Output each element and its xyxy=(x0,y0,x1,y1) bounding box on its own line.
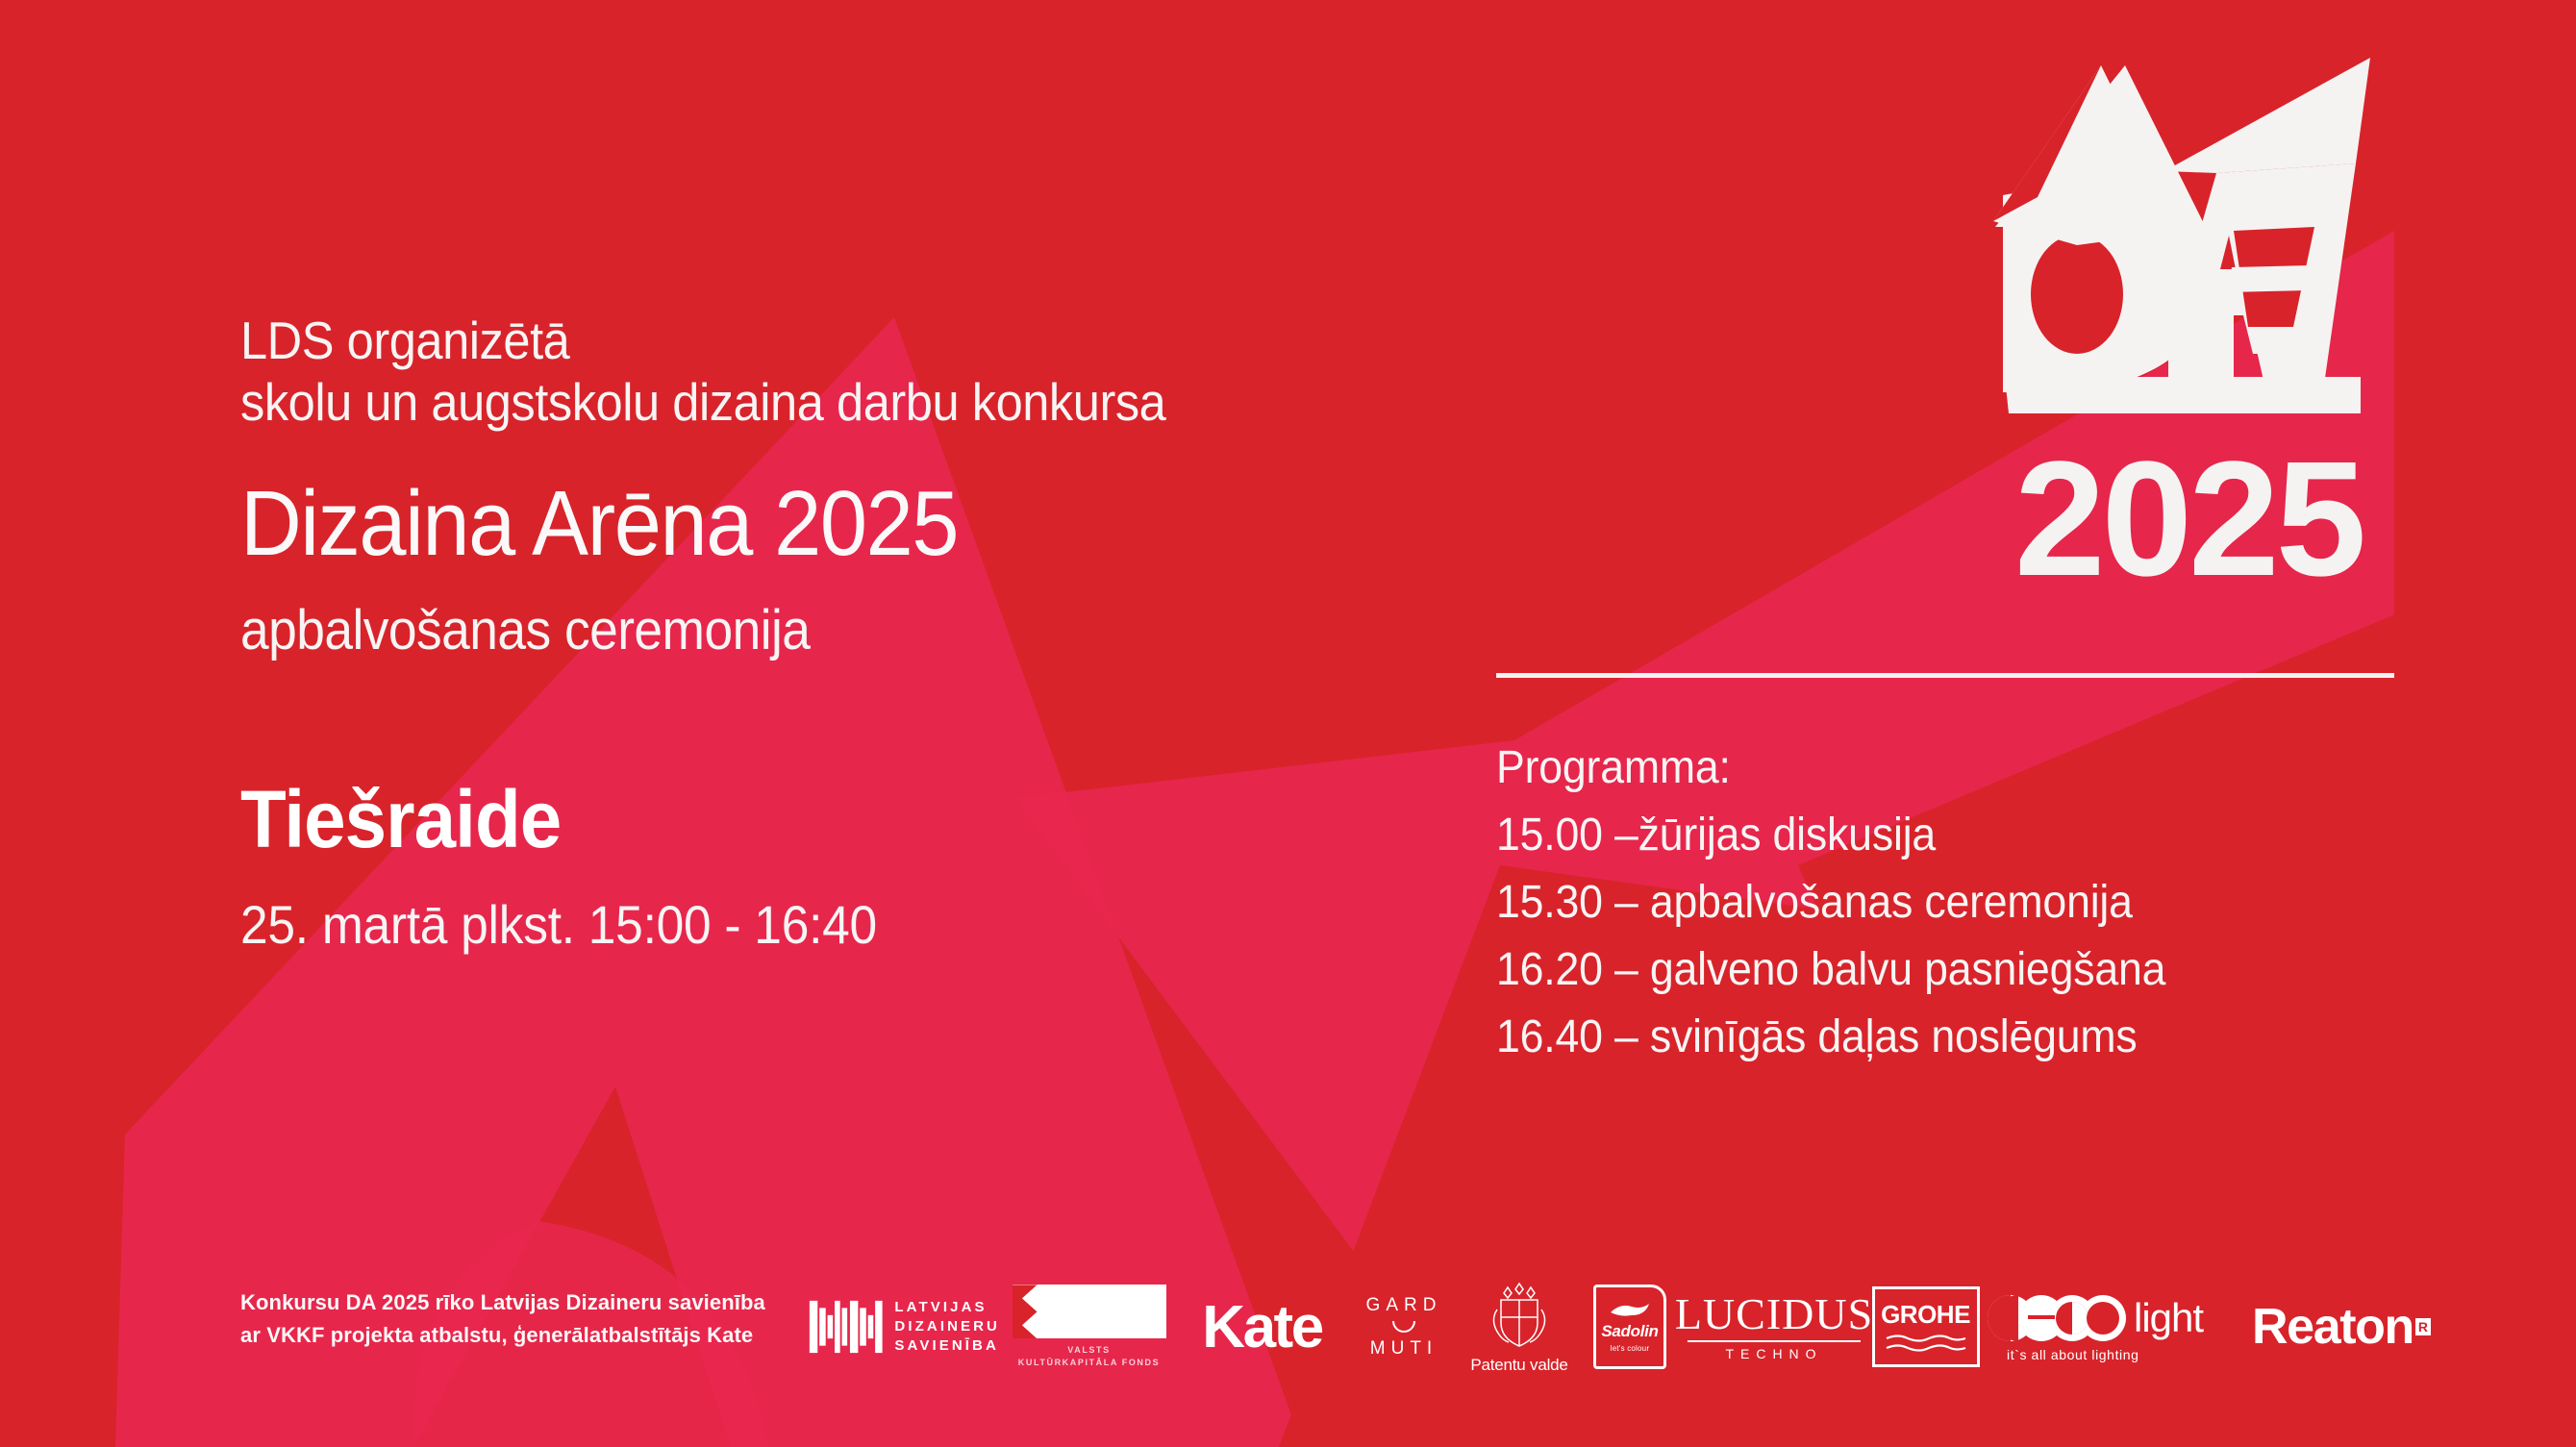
vkkf-caption: VALSTS KULTŪRKAPITĀLA FONDS xyxy=(1018,1344,1161,1368)
program-item: 16.20 – galveno balvu pasniegšana xyxy=(1496,947,2390,993)
sponsor-logo-gard-muti: GARD MUTI xyxy=(1346,1269,1462,1385)
lds-wordmark: LATVIJAS DIZAINERU SAVIENĪBA xyxy=(894,1298,1000,1357)
kicker-line-1: LDS organizētā xyxy=(240,310,1346,371)
sponsor-logo-grohe: GROHE xyxy=(1865,1269,1986,1385)
grohe-waves-icon xyxy=(1885,1333,1967,1354)
intro-text-block: LDS organizētā skolu un augstskolu dizai… xyxy=(240,310,1442,659)
sponsor-logo-reaton: Reaton R xyxy=(2245,1269,2438,1385)
livestream-title: Tiešraide xyxy=(240,779,1313,860)
program-heading: Programma: xyxy=(1496,745,2390,791)
lucidus-wordmark: LUCIDUS xyxy=(1675,1292,1873,1336)
livestream-block: Tiešraide 25. martā plkst. 15:00 - 16:40 xyxy=(240,779,1394,952)
sponsor-logo-vkkf: VALSTS KULTŪRKAPITĀLA FONDS xyxy=(1000,1269,1178,1385)
vkkf-caption-line-2: KULTŪRKAPITĀLA FONDS xyxy=(1018,1357,1161,1369)
reaton-wordmark: Reaton xyxy=(2252,1298,2413,1356)
logo-base-bar xyxy=(2005,377,2361,413)
page-subtitle: apbalvošanas ceremonija xyxy=(240,603,1346,659)
grohe-mark-icon: GROHE xyxy=(1872,1286,1980,1367)
logo-a-sweep xyxy=(2164,58,2370,173)
sponsor-logo-sadolin: Sadolin let's colour xyxy=(1577,1269,1683,1385)
deco-circles-icon xyxy=(1986,1291,2130,1345)
grohe-wordmark: GROHE xyxy=(1881,1300,1970,1330)
gard-line-2: MUTI xyxy=(1370,1339,1438,1358)
kate-wordmark: Kate xyxy=(1202,1293,1321,1361)
vkkf-caption-line-1: VALSTS xyxy=(1018,1344,1161,1357)
deco-light-word: light xyxy=(2134,1295,2203,1341)
patentu-valde-caption: Patentu valde xyxy=(1470,1356,1567,1375)
sponsor-logo-patentu-valde: Patentu valde xyxy=(1462,1269,1577,1385)
sponsor-logo-lds: LATVIJAS DIZAINERU SAVIENĪBA xyxy=(808,1269,1000,1385)
poster-canvas: LDS organizētā skolu un augstskolu dizai… xyxy=(0,0,2576,1447)
logo-d-counter xyxy=(2031,235,2123,354)
latvia-coat-of-arms-icon xyxy=(1484,1279,1555,1350)
lds-line-1: LATVIJAS xyxy=(894,1298,1000,1317)
program-item: 16.40 – svinīgās daļas noslēgums xyxy=(1496,1014,2390,1060)
footer-credit-line-1: Konkursu DA 2025 rīko Latvijas Dizaineru… xyxy=(240,1286,765,1319)
lds-mark-icon xyxy=(808,1295,885,1359)
sadolin-wordmark: Sadolin xyxy=(1601,1322,1658,1341)
page-title: Dizaina Arēna 2025 xyxy=(240,478,1346,570)
sponsor-logo-deco-light: light it`s all about lighting xyxy=(1986,1269,2245,1385)
program-item: 15.30 – apbalvošanas ceremonija xyxy=(1496,880,2390,926)
lucidus-rule xyxy=(1688,1340,1861,1342)
reaton-registered-mark: R xyxy=(2415,1318,2431,1335)
footer-credit-line-2: ar VKKF projekta atbalstu, ģenerālatbals… xyxy=(240,1319,765,1352)
logo-a-bar-red xyxy=(2228,265,2311,292)
kicker-line-2: skolu un augstskolu dizaina darbu konkur… xyxy=(240,371,1346,433)
program-block: Programma: 15.00 –žūrijas diskusija 15.3… xyxy=(1496,745,2458,1060)
livestream-datetime: 25. martā plkst. 15:00 - 16:40 xyxy=(240,898,1302,952)
lds-line-3: SAVIENĪBA xyxy=(894,1336,1000,1356)
gard-line-1: GARD xyxy=(1366,1296,1442,1314)
deco-row: light xyxy=(1986,1291,2203,1345)
lds-line-2: DIZAINERU xyxy=(894,1317,1000,1336)
sponsor-logo-strip: LATVIJAS DIZAINERU SAVIENĪBA VALSTS KULT… xyxy=(808,1269,2438,1385)
deco-tagline: it`s all about lighting xyxy=(1986,1347,2139,1362)
vkkf-mark-icon xyxy=(1013,1285,1166,1338)
logo-year: 2025 xyxy=(2014,428,2363,606)
sadolin-brush-icon xyxy=(1609,1302,1651,1319)
horizontal-divider xyxy=(1496,673,2394,678)
sponsor-logo-kate: Kate xyxy=(1178,1269,1346,1385)
sadolin-tagline: let's colour xyxy=(1611,1344,1649,1353)
program-item: 15.00 –žūrijas diskusija xyxy=(1496,812,2390,859)
da-2025-logo: 2025 xyxy=(1976,38,2389,606)
lucidus-subword: TECHNO xyxy=(1725,1346,1822,1361)
gard-u-icon xyxy=(1392,1321,1415,1333)
sponsor-logo-lucidus: LUCIDUS TECHNO xyxy=(1683,1269,1865,1385)
footer-credit: Konkursu DA 2025 rīko Latvijas Dizaineru… xyxy=(240,1286,765,1352)
sadolin-mark-icon: Sadolin let's colour xyxy=(1593,1285,1666,1369)
